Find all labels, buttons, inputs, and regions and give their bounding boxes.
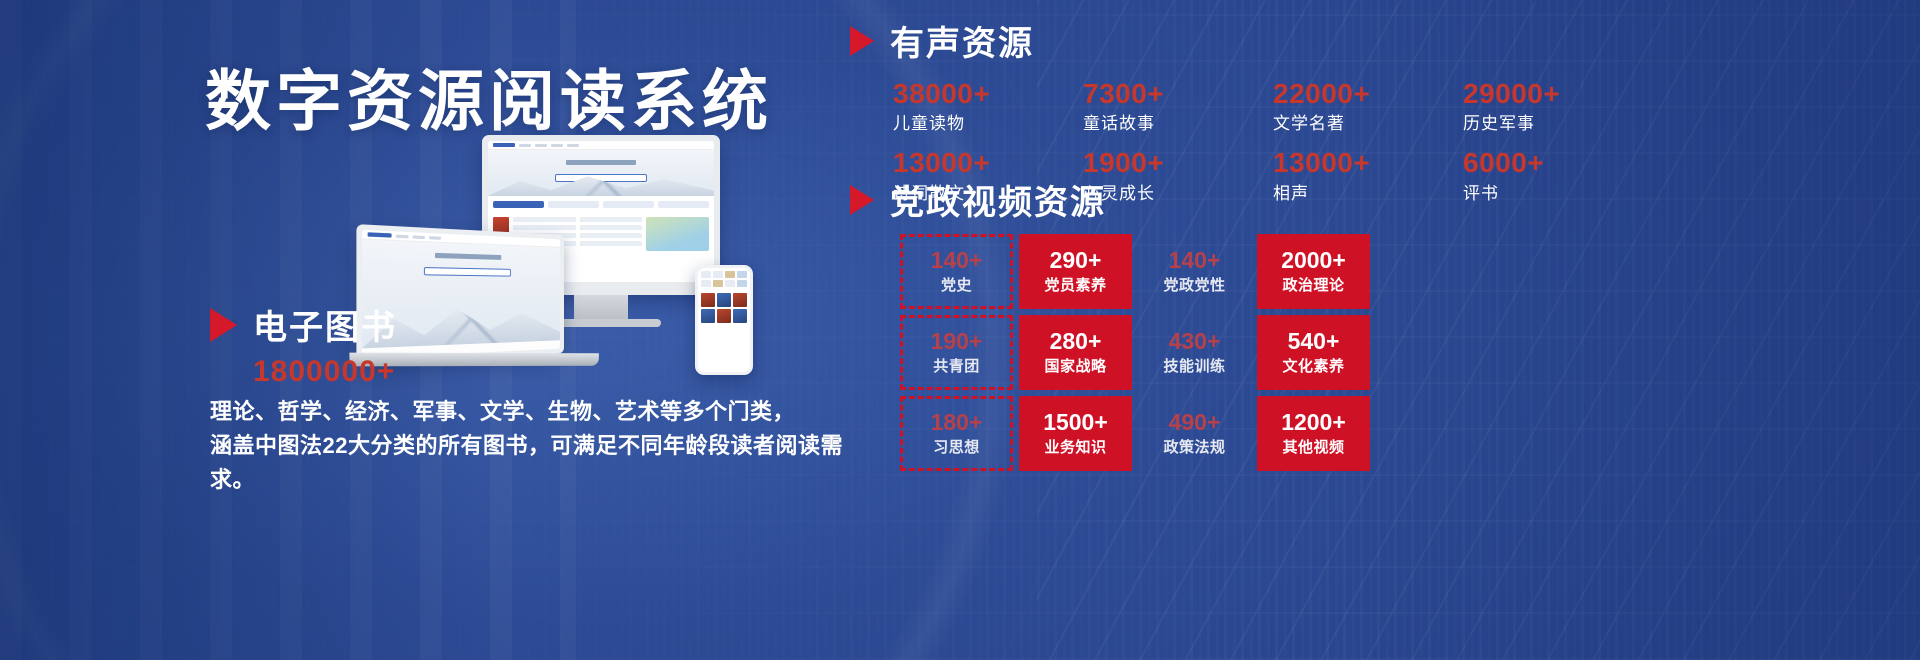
party-tile-value: 1500+ (1043, 410, 1108, 434)
ebook-section-title: 电子图书 (253, 300, 397, 349)
audio-stat-value: 6000+ (1463, 148, 1653, 177)
audio-stat-label: 童话故事 (1083, 109, 1273, 134)
party-section-header: 党政视频资源 (850, 175, 1905, 224)
party-section-title: 党政视频资源 (890, 175, 1106, 224)
laptop-screen-nav-item (396, 234, 409, 238)
phone-screen-icon (713, 271, 723, 278)
monitor-screen-list-row (580, 233, 643, 238)
phone-screen-icon (713, 280, 723, 287)
monitor-screen-nav-item (567, 144, 579, 147)
party-tile-label: 习思想 (933, 436, 980, 457)
ebook-section: 电子图书 1800000+ 理论、哲学、经济、军事、文学、生物、艺术等多个门类，… (210, 300, 870, 497)
party-tile-label: 技能训练 (1163, 355, 1225, 376)
party-tile-label: 其他视频 (1282, 436, 1344, 457)
party-tile-label: 业务知识 (1044, 436, 1106, 457)
party-video-tile[interactable]: 490+ 政策法规 (1138, 396, 1251, 471)
audio-stat-item: 38000+ 儿童读物 (893, 79, 1083, 134)
audio-stat-label: 儿童读物 (893, 109, 1083, 134)
party-video-tile[interactable]: 280+ 国家战略 (1019, 315, 1132, 390)
party-video-tile[interactable]: 140+ 党政党性 (1138, 234, 1251, 309)
party-video-tile[interactable]: 430+ 技能训练 (1138, 315, 1251, 390)
laptop-screen-hero-title (435, 253, 501, 260)
audio-stat-value: 1900+ (1083, 148, 1273, 177)
phone-screen-icon-grid (698, 268, 750, 290)
party-tile-value: 430+ (1169, 329, 1221, 353)
party-video-tile[interactable]: 2000+ 政治理论 (1257, 234, 1370, 309)
audio-stat-value: 38000+ (893, 79, 1083, 108)
play-triangle-icon (850, 185, 874, 215)
laptop-screen-nav-item (429, 236, 441, 240)
laptop-screen-search-box (424, 267, 511, 277)
monitor-screen-tabs (488, 196, 714, 213)
party-tile-value: 1200+ (1281, 410, 1346, 434)
monitor-screen-list-row (580, 225, 643, 230)
phone-screen-icon (701, 271, 711, 278)
page-title: 数字资源阅读系统 (205, 48, 773, 144)
monitor-screen-list-row (580, 241, 643, 246)
monitor-screen-tab (493, 201, 544, 208)
monitor-screen-nav-item (535, 144, 547, 147)
laptop-screen-logo (368, 232, 392, 237)
monitor-screen-nav-item (519, 144, 531, 147)
ebook-description: 理论、哲学、经济、军事、文学、生物、艺术等多个门类， 涵盖中图法22大分类的所有… (210, 395, 870, 497)
party-tile-label: 党史 (941, 274, 972, 295)
audio-stat-item: 29000+ 历史军事 (1463, 79, 1653, 134)
phone-screen-icon (725, 280, 735, 287)
party-tile-value: 2000+ (1281, 248, 1346, 272)
party-tile-value: 180+ (931, 410, 983, 434)
party-video-tile[interactable]: 140+ 党史 (900, 234, 1013, 309)
party-tile-value: 280+ (1050, 329, 1102, 353)
monitor-screen-list-row (580, 217, 643, 222)
audio-stat-item: 7300+ 童话故事 (1083, 79, 1273, 134)
party-video-tile[interactable]: 1200+ 其他视频 (1257, 396, 1370, 471)
audio-stat-value: 22000+ (1273, 79, 1463, 108)
monitor-screen-tab (658, 201, 709, 208)
audio-stat-value: 29000+ (1463, 79, 1653, 108)
monitor-screen-list-row (513, 217, 576, 222)
party-tile-value: 140+ (1169, 248, 1221, 272)
audio-stat-value: 13000+ (893, 148, 1083, 177)
monitor-screen-nav-item (551, 144, 563, 147)
party-tile-label: 党员素养 (1044, 274, 1106, 295)
party-video-tile[interactable]: 540+ 文化素养 (1257, 315, 1370, 390)
monitor-screen-list-column (580, 217, 643, 251)
party-tile-label: 政策法规 (1163, 436, 1225, 457)
laptop-screen-nav-item (413, 235, 425, 239)
party-video-tile[interactable]: 180+ 习思想 (900, 396, 1013, 471)
monitor-screen-logo (493, 143, 515, 147)
ebook-description-line-2: 涵盖中图法22大分类的所有图书，可满足不同年龄段读者阅读需求。 (210, 429, 870, 497)
monitor-screen-hero (488, 150, 714, 196)
party-tile-value: 490+ (1169, 410, 1221, 434)
monitor-screen-topbar (488, 141, 714, 150)
ebook-count: 1800000+ (253, 355, 870, 389)
party-tile-value: 190+ (931, 329, 983, 353)
play-triangle-icon (850, 26, 874, 56)
phone-screen-icon (737, 271, 747, 278)
party-video-tile-grid: 140+ 党史 290+ 党员素养 140+ 党政党性 2000+ 政治理论 1… (900, 234, 1905, 471)
monitor-screen-tab (603, 201, 654, 208)
monitor-screen-illustration (646, 217, 709, 251)
party-tile-value: 540+ (1288, 329, 1340, 353)
phone-screen-icon (737, 280, 747, 287)
party-video-section: 党政视频资源 140+ 党史 290+ 党员素养 140+ 党政党性 2000+… (845, 175, 1905, 471)
play-triangle-icon (210, 308, 237, 342)
party-tile-label: 党政党性 (1163, 274, 1225, 295)
phone-screen-icon (725, 271, 735, 278)
phone-screen-icon (701, 280, 711, 287)
party-tile-value: 140+ (931, 248, 983, 272)
monitor-screen-list-row (513, 225, 576, 230)
audio-stat-value: 13000+ (1273, 148, 1463, 177)
party-video-tile[interactable]: 290+ 党员素养 (1019, 234, 1132, 309)
party-video-tile[interactable]: 1500+ 业务知识 (1019, 396, 1132, 471)
party-video-tile[interactable]: 190+ 共青团 (900, 315, 1013, 390)
party-tile-label: 文化素养 (1282, 355, 1344, 376)
audio-section-header: 有声资源 (850, 16, 1905, 65)
audio-stat-label: 文学名著 (1273, 109, 1463, 134)
audio-stat-item: 22000+ 文学名著 (1273, 79, 1463, 134)
monitor-screen-illustration-column (646, 217, 709, 251)
party-tile-label: 共青团 (933, 355, 980, 376)
party-tile-label: 政治理论 (1282, 274, 1344, 295)
party-tile-value: 290+ (1050, 248, 1102, 272)
audio-stat-label: 历史军事 (1463, 109, 1653, 134)
audio-stat-value: 7300+ (1083, 79, 1273, 108)
party-tile-label: 国家战略 (1044, 355, 1106, 376)
monitor-screen-hero-title (566, 160, 636, 165)
ebook-section-header: 电子图书 (210, 300, 870, 349)
ebook-description-line-1: 理论、哲学、经济、军事、文学、生物、艺术等多个门类， (210, 395, 870, 429)
audio-section-title: 有声资源 (890, 16, 1034, 65)
monitor-screen-tab (548, 201, 599, 208)
